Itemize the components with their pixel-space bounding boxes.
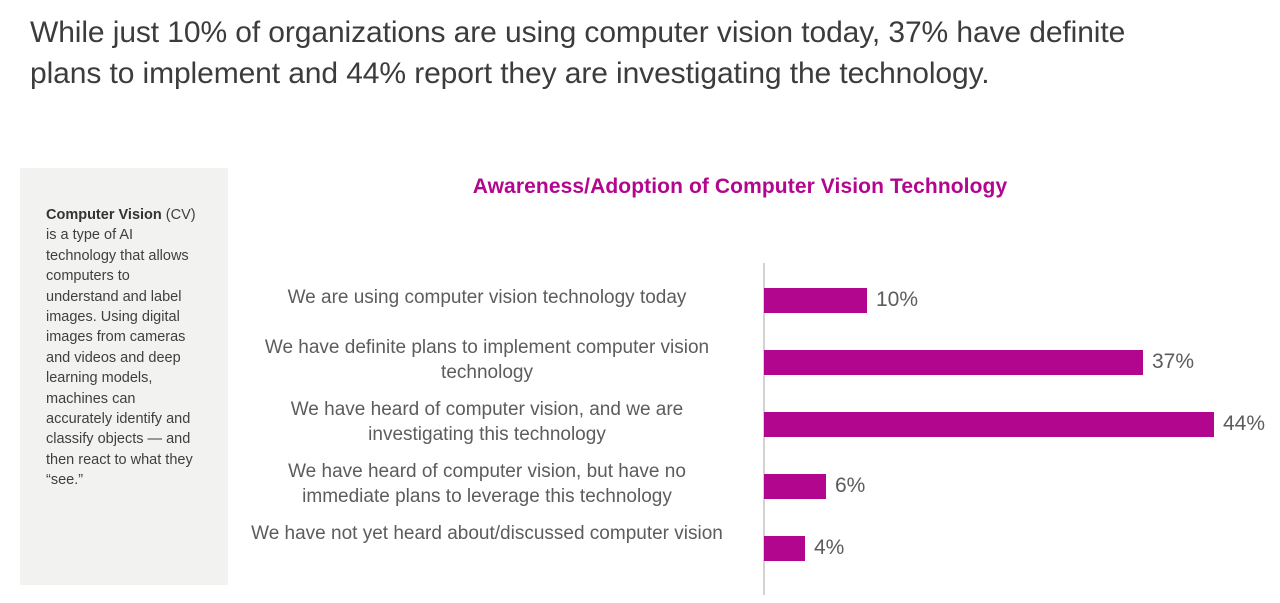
category-label: We have definite plans to implement comp… <box>247 335 727 385</box>
bar-value <box>764 412 1214 437</box>
category-label: We have heard of computer vision, but ha… <box>247 459 727 509</box>
chart-row: We are using computer vision technology … <box>240 263 1270 325</box>
definition-callout-panel: Computer Vision (CV) is a type of AI tec… <box>20 168 228 585</box>
chart-row: We have not yet heard about/discussed co… <box>240 511 1270 573</box>
category-label: We have heard of computer vision, and we… <box>247 397 727 447</box>
chart-row: We have heard of computer vision, but ha… <box>240 449 1270 511</box>
bar-value <box>764 288 867 313</box>
chart-row: We have heard of computer vision, and we… <box>240 387 1270 449</box>
definition-body: (CV) is a type of AI technology that all… <box>46 207 196 488</box>
bar-value-label: 37% <box>1152 349 1194 375</box>
bar-value-label: 10% <box>876 287 918 313</box>
bar-value <box>764 474 826 499</box>
definition-text: Computer Vision (CV) is a type of AI tec… <box>46 205 204 491</box>
chart-plot-area: We are using computer vision technology … <box>240 263 1270 595</box>
category-label: We have not yet heard about/discussed co… <box>247 521 727 546</box>
chart-row: We have definite plans to implement comp… <box>240 325 1270 387</box>
bar-value <box>764 536 805 561</box>
bar-value-label: 4% <box>814 535 844 561</box>
bar-value-label: 6% <box>835 473 865 499</box>
chart-title: Awareness/Adoption of Computer Vision Te… <box>240 175 1240 199</box>
bar-value <box>764 350 1143 375</box>
definition-term: Computer Vision <box>46 207 162 223</box>
bar-value-label: 44% <box>1223 411 1265 437</box>
category-label: We are using computer vision technology … <box>247 285 727 310</box>
page-headline: While just 10% of organizations are usin… <box>30 12 1190 94</box>
bar-chart: Awareness/Adoption of Computer Vision Te… <box>240 165 1270 595</box>
